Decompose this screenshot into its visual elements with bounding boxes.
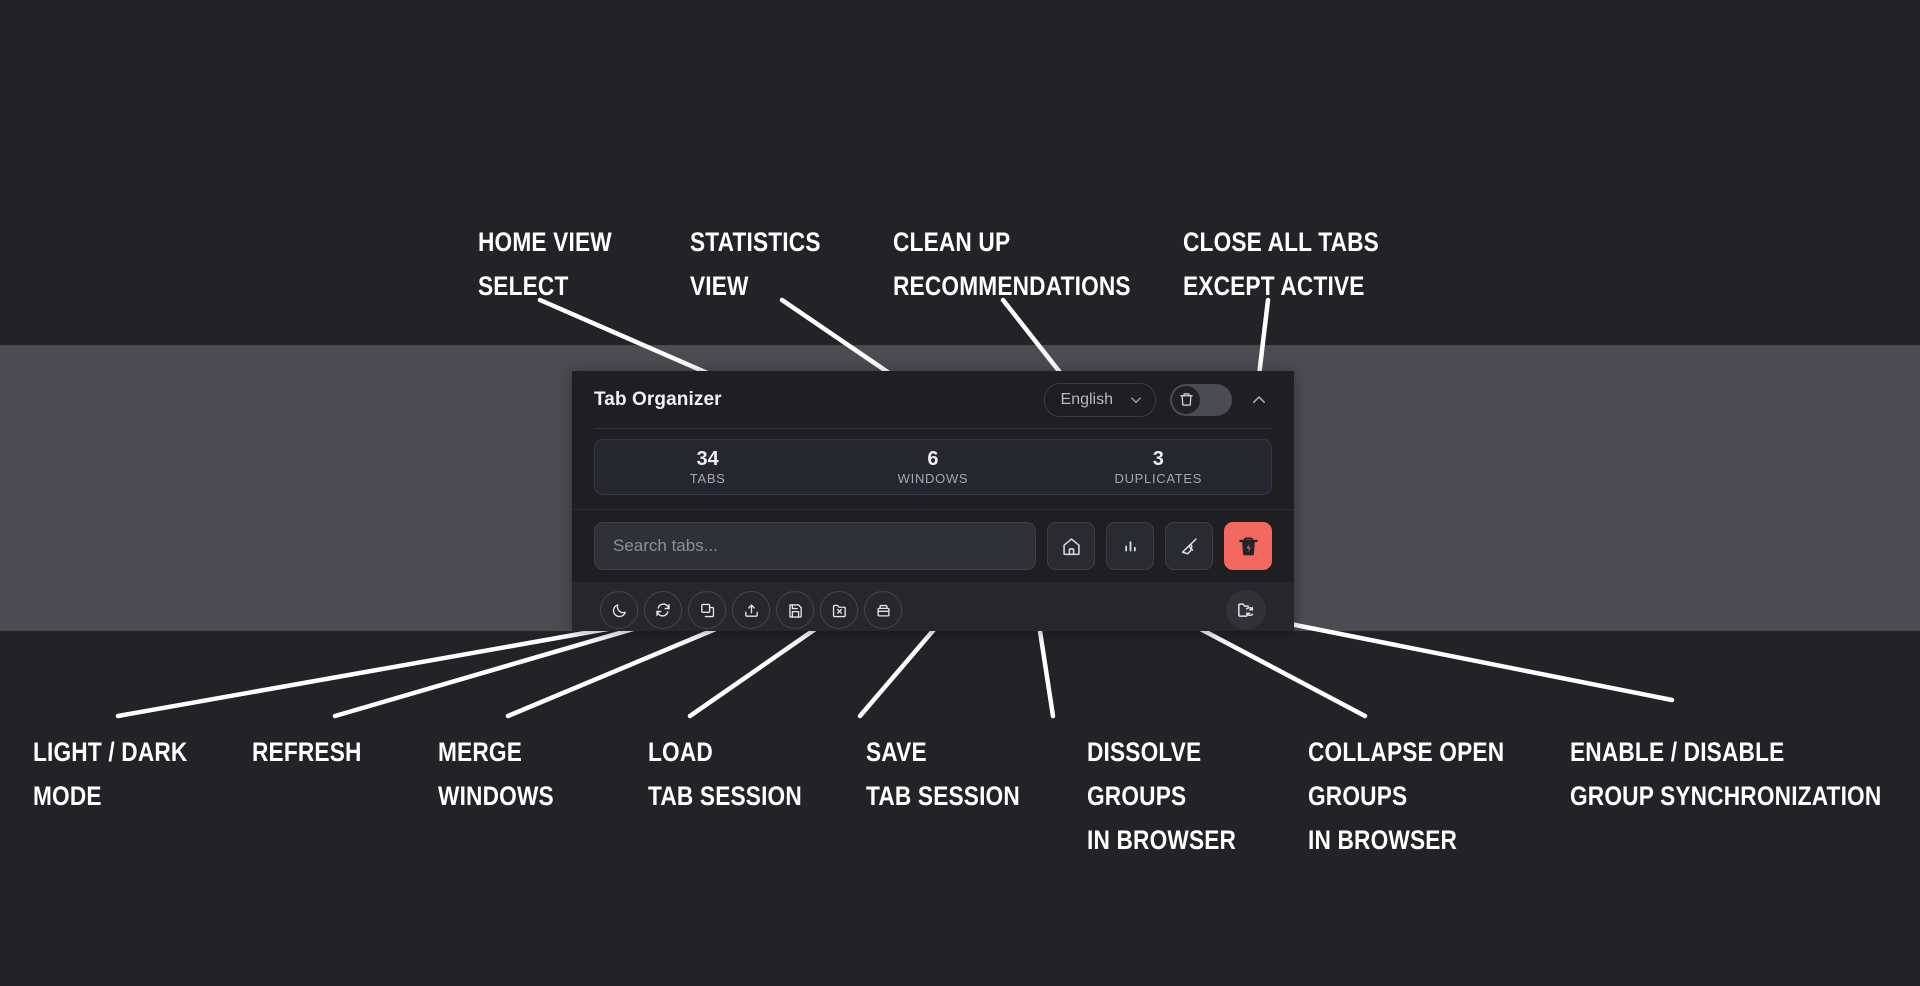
stat-tabs: 34 TABS: [595, 448, 820, 487]
moon-icon: [611, 602, 628, 619]
chevron-down-icon: [1129, 393, 1143, 407]
clean-up-button[interactable]: [1165, 522, 1213, 570]
broom-icon: [1178, 535, 1200, 557]
auto-close-toggle[interactable]: [1170, 384, 1232, 416]
refresh-icon: [654, 601, 672, 619]
archive-box-icon: [875, 602, 892, 619]
panel-header: Tab Organizer English: [572, 371, 1294, 428]
annotation-statistics-view: STATISTICS VIEW: [690, 220, 821, 308]
save-tab-session-button[interactable]: [776, 591, 814, 629]
annotation-merge-windows: MERGE WINDOWS: [438, 730, 554, 818]
annotation-load-tab-session: LOAD TAB SESSION: [648, 730, 802, 818]
search-input[interactable]: [594, 522, 1036, 570]
home-icon: [1061, 536, 1082, 557]
stat-tabs-label: TABS: [595, 471, 820, 487]
folder-sync-icon: [1236, 600, 1256, 620]
annotation-close-all-tabs-except-active: CLOSE ALL TABS EXCEPT ACTIVE: [1183, 220, 1379, 308]
annotation-home-view-select: HOME VIEW SELECT: [478, 220, 612, 308]
toggle-knob: [1172, 386, 1200, 414]
bar-chart-icon: [1120, 536, 1141, 557]
refresh-button[interactable]: [644, 591, 682, 629]
search-row: [572, 509, 1294, 582]
annotation-clean-up-recommendations: CLEAN UP RECOMMENDATIONS: [893, 220, 1131, 308]
folder-x-icon: [831, 602, 848, 619]
header-divider: [594, 428, 1272, 429]
home-view-button[interactable]: [1047, 522, 1095, 570]
stat-windows-label: WINDOWS: [820, 471, 1045, 487]
language-select[interactable]: English: [1044, 383, 1156, 417]
statistics-view-button[interactable]: [1106, 522, 1154, 570]
annotation-collapse-open-groups-in-browser: COLLAPSE OPEN GROUPS IN BROWSER: [1308, 730, 1504, 862]
merge-windows-button[interactable]: [688, 591, 726, 629]
trash-bolt-icon: [1237, 535, 1260, 558]
annotation-light-dark-mode: LIGHT / DARK MODE: [33, 730, 187, 818]
bottom-toolbar: [572, 582, 1294, 631]
dissolve-groups-button[interactable]: [820, 591, 858, 629]
annotation-refresh: REFRESH: [252, 730, 362, 774]
stats-strip: 34 TABS 6 WINDOWS 3 DUPLICATES: [594, 439, 1272, 495]
floppy-disk-icon: [787, 602, 804, 619]
collapse-groups-button[interactable]: [864, 591, 902, 629]
copy-squares-icon: [699, 602, 716, 619]
page-title: Tab Organizer: [594, 389, 722, 411]
header-controls: English: [1044, 383, 1272, 417]
annotation-save-tab-session: SAVE TAB SESSION: [866, 730, 1020, 818]
stat-windows: 6 WINDOWS: [820, 448, 1045, 487]
stat-windows-value: 6: [820, 448, 1045, 471]
annotation-dissolve-groups-in-browser: DISSOLVE GROUPS IN BROWSER: [1087, 730, 1236, 862]
annotation-enable-disable-group-synchronization: ENABLE / DISABLE GROUP SYNCHRONIZATION: [1570, 730, 1881, 818]
upload-icon: [743, 602, 760, 619]
stat-duplicates-label: DUPLICATES: [1046, 471, 1271, 487]
group-sync-toggle-button[interactable]: [1226, 590, 1266, 630]
light-dark-mode-button[interactable]: [600, 591, 638, 629]
close-all-tabs-button[interactable]: [1224, 522, 1272, 570]
language-select-value: English: [1061, 391, 1113, 409]
load-tab-session-button[interactable]: [732, 591, 770, 629]
tab-organizer-panel: Tab Organizer English 34 TABS: [572, 371, 1294, 631]
stat-tabs-value: 34: [595, 448, 820, 471]
stat-duplicates: 3 DUPLICATES: [1046, 448, 1271, 487]
stat-duplicates-value: 3: [1046, 448, 1271, 471]
collapse-panel-button[interactable]: [1246, 387, 1272, 413]
